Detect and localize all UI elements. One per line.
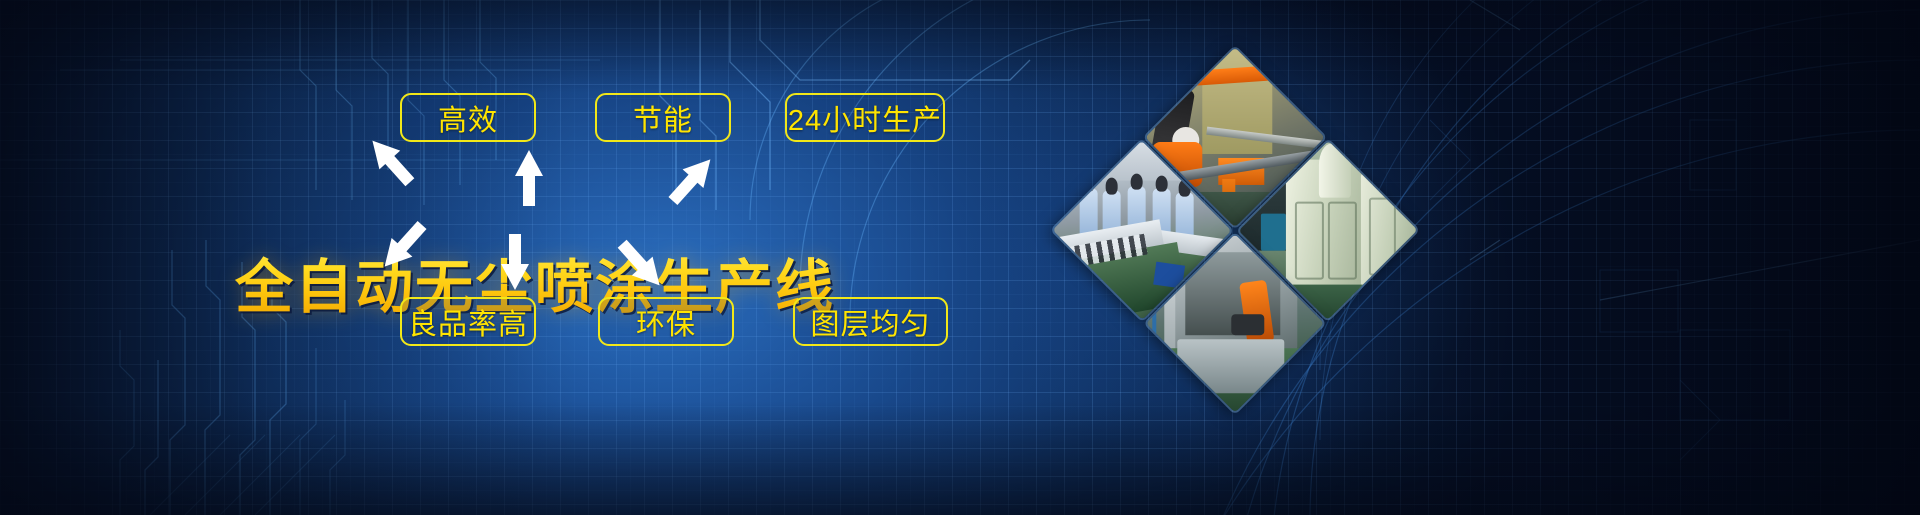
arrow-up-right-icon — [663, 150, 721, 210]
feature-tag-liangpinlv[interactable]: 良品率高 — [400, 297, 536, 346]
feature-tag-label: 环保 — [636, 301, 696, 343]
arrow-up-icon — [515, 150, 543, 206]
banner-root: 高效 节能 24小时生产 全自动无尘喷涂生产线 良品率高 环保 图层均匀 — [0, 0, 1920, 515]
feature-tag-label: 良品率高 — [408, 301, 528, 343]
photo-collage — [1035, 30, 1435, 430]
feature-tag-tucengjunyun[interactable]: 图层均匀 — [793, 297, 948, 346]
feature-tag-jieneng[interactable]: 节能 — [595, 93, 731, 142]
feature-tag-label: 24小时生产 — [788, 97, 942, 139]
feature-tag-label: 高效 — [438, 97, 498, 139]
feature-diagram: 高效 节能 24小时生产 全自动无尘喷涂生产线 良品率高 环保 图层均匀 — [0, 0, 1000, 515]
feature-tag-huanbao[interactable]: 环保 — [598, 297, 734, 346]
feature-tag-label: 图层均匀 — [810, 301, 930, 343]
feature-tag-label: 节能 — [633, 97, 693, 139]
feature-tag-24h[interactable]: 24小时生产 — [785, 93, 945, 142]
feature-tag-gaoxiao[interactable]: 高效 — [400, 93, 536, 142]
